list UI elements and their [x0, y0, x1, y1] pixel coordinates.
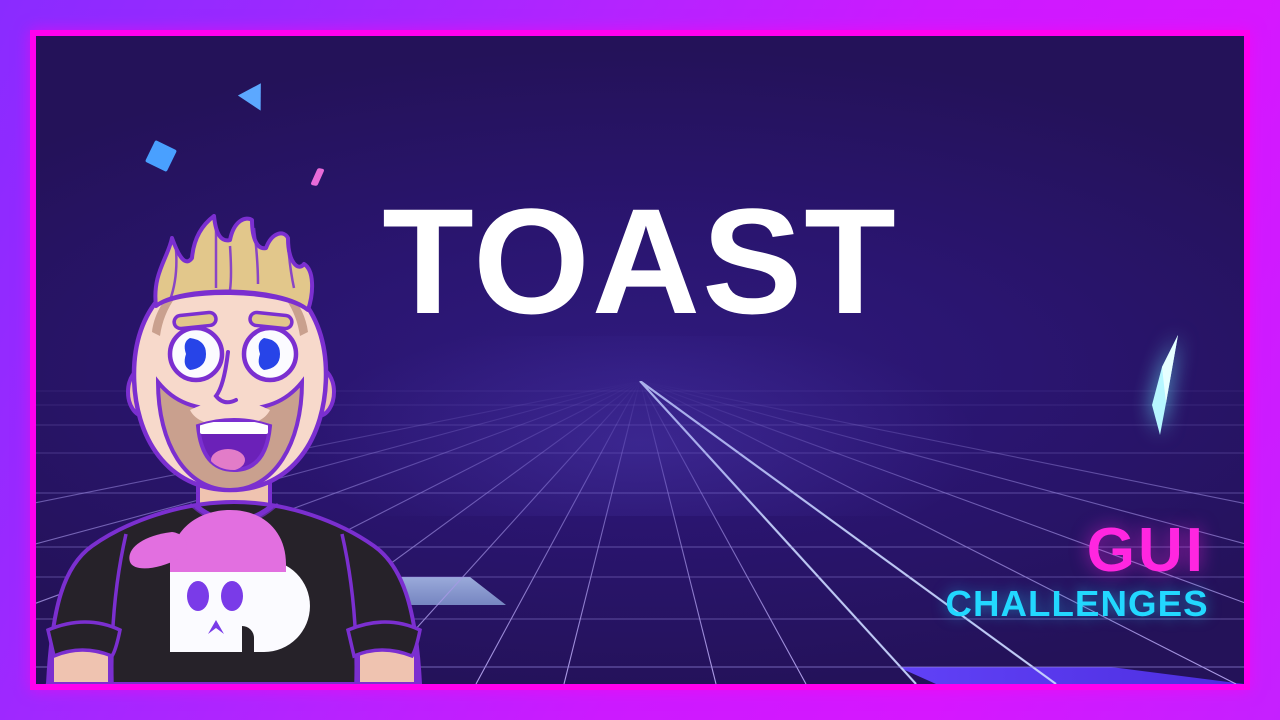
brand-logo: GUI CHALLENGES — [948, 520, 1206, 622]
confetti-square-blue — [145, 140, 177, 172]
avatar-head — [128, 216, 334, 490]
scene: TOAST GUI CHALLENGES — [36, 36, 1244, 684]
host-avatar — [36, 214, 430, 684]
brand-logo-gui: GUI — [948, 520, 1206, 582]
cyan-shard-icon — [1136, 331, 1196, 441]
confetti-triangle-blue-top — [238, 83, 272, 116]
brand-logo-challenges: CHALLENGES — [945, 586, 1208, 622]
neon-frame: TOAST GUI CHALLENGES — [30, 30, 1250, 690]
confetti-sliver-pink — [310, 168, 324, 186]
video-thumbnail: TOAST GUI CHALLENGES — [0, 0, 1280, 720]
